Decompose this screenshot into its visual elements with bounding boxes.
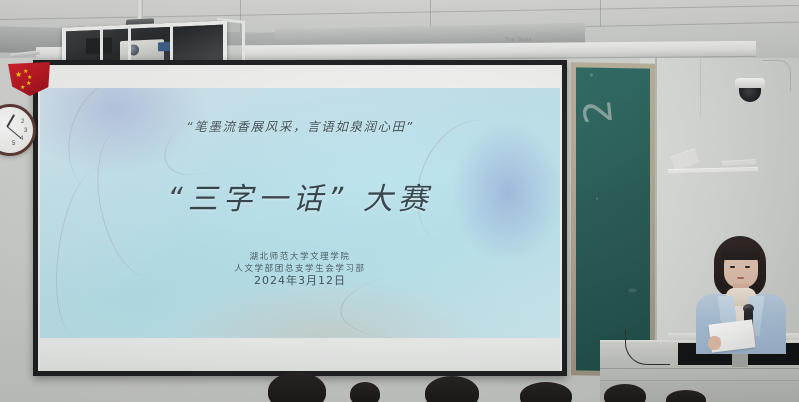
wall-seam-upper — [700, 56, 701, 116]
audience-head — [425, 376, 479, 402]
flag-star-icon: ★ — [15, 72, 22, 78]
chalk-mark: 2 — [576, 98, 621, 126]
clock-number: 3 — [24, 128, 27, 134]
clock-hour-hand — [6, 114, 14, 127]
audience-head — [604, 384, 646, 402]
chalk-dust — [596, 198, 598, 200]
student-presenter — [688, 236, 793, 346]
ceiling-grid-line — [600, 0, 601, 26]
clock-number: 5 — [12, 141, 15, 147]
clock-number: 2 — [21, 119, 24, 125]
audience-head — [350, 382, 380, 402]
lectern-edge-line — [600, 368, 799, 369]
microphone-cable — [625, 330, 670, 365]
screen-glare — [40, 88, 560, 338]
clock-minute-hand — [7, 126, 22, 138]
chalk-dust — [590, 74, 593, 77]
presenter-mouth — [737, 277, 744, 279]
presenter-fringe — [721, 244, 761, 260]
flag-star-icon: ★ — [20, 85, 25, 91]
presenter-eye — [745, 266, 750, 268]
chalkboard: 2 — [576, 67, 650, 371]
presenter-eye — [730, 266, 735, 268]
projected-slide: “笔墨流香展风采，言语如泉润心田” “三字一话” 大赛 湖北师范大学文理学院 人… — [40, 88, 560, 338]
audience-head — [520, 382, 572, 402]
camera-cable — [762, 60, 791, 91]
audience-head — [268, 372, 326, 402]
classroom-scene: Tim Tools “笔墨流香展风采，言语如泉润心田” “三字一话” 大赛 湖北… — [0, 0, 799, 402]
chalk-dust — [628, 288, 637, 292]
lectern-edge-line — [600, 380, 799, 381]
whiteboard-lower-blank — [40, 338, 560, 371]
presenter-hand-left — [708, 336, 721, 350]
roller-brand-logo: Tim Tools — [505, 37, 563, 47]
projector-shadow — [86, 37, 112, 54]
flag-star-icon: ★ — [26, 81, 31, 87]
